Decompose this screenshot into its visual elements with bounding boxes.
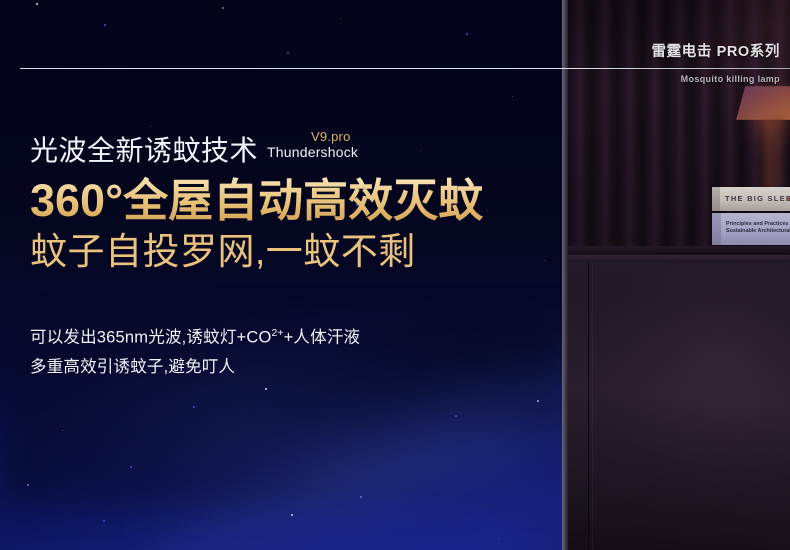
dresser-panel-seam-highlight: [592, 263, 593, 550]
headline-block: 光波全新诱蚊技术 V9.pro Thundershock 360°全屋自动高效灭…: [30, 132, 550, 275]
book-the-big-sleep: THE BIG SLEEP: [712, 187, 790, 211]
brand-name-cn: 雷霆电击 PRO系列: [652, 40, 780, 61]
lamp-shade: [736, 86, 790, 120]
shelf-surface: [568, 246, 790, 255]
book-bottom-title-line2: Sustainable Architectural Design: [726, 228, 790, 235]
headline-line-2: 360°全屋自动高效灭蚊: [30, 175, 550, 227]
model-badge: V9.pro Thundershock: [267, 130, 363, 166]
book-bottom-title-line1: Principles and Practices of: [726, 221, 790, 228]
dresser-panel-seam: [588, 263, 589, 550]
headline-line-3: 蚊子自投罗网,一蚊不剩: [30, 229, 550, 275]
headline-line-1-cn: 光波全新诱蚊技术: [30, 136, 258, 166]
model-number: V9.pro: [311, 129, 351, 144]
brand-name-en: Mosquito killing lamp: [681, 74, 780, 84]
headline-line-1: 光波全新诱蚊技术 V9.pro Thundershock: [30, 132, 550, 166]
book-spine: [712, 213, 721, 245]
body-copy-block: 可以发出365nm光波,诱蚊灯+CO2++人体汗液 多重高效引诱蚊子,避免叮人: [30, 322, 530, 385]
dresser-cabinet: [568, 255, 790, 550]
promo-banner: THE BIG SLEEP Principles and Practices o…: [0, 0, 790, 550]
dresser-top-lip: [568, 255, 790, 262]
body-copy-line-2: 多重高效引诱蚊子,避免叮人: [30, 356, 530, 379]
body-copy-line-1: 可以发出365nm光波,诱蚊灯+CO2++人体汗液: [30, 322, 530, 350]
book-top-title: THE BIG SLEEP: [725, 194, 790, 203]
book-stack: THE BIG SLEEP Principles and Practices o…: [712, 187, 790, 249]
book-spine: [712, 187, 720, 211]
body-copy-line-1-post: +人体汗液: [284, 329, 361, 347]
body-copy-line-1-pre: 可以发出365nm光波,诱蚊灯+CO: [30, 329, 272, 347]
book-sustainable-architecture: Principles and Practices of Sustainable …: [712, 213, 790, 245]
starfield: [0, 0, 570, 550]
body-copy-superscript: 2+: [272, 328, 284, 339]
header-divider-rule: [20, 68, 790, 69]
model-name-en: Thundershock: [267, 144, 358, 160]
space-background: [0, 0, 570, 550]
